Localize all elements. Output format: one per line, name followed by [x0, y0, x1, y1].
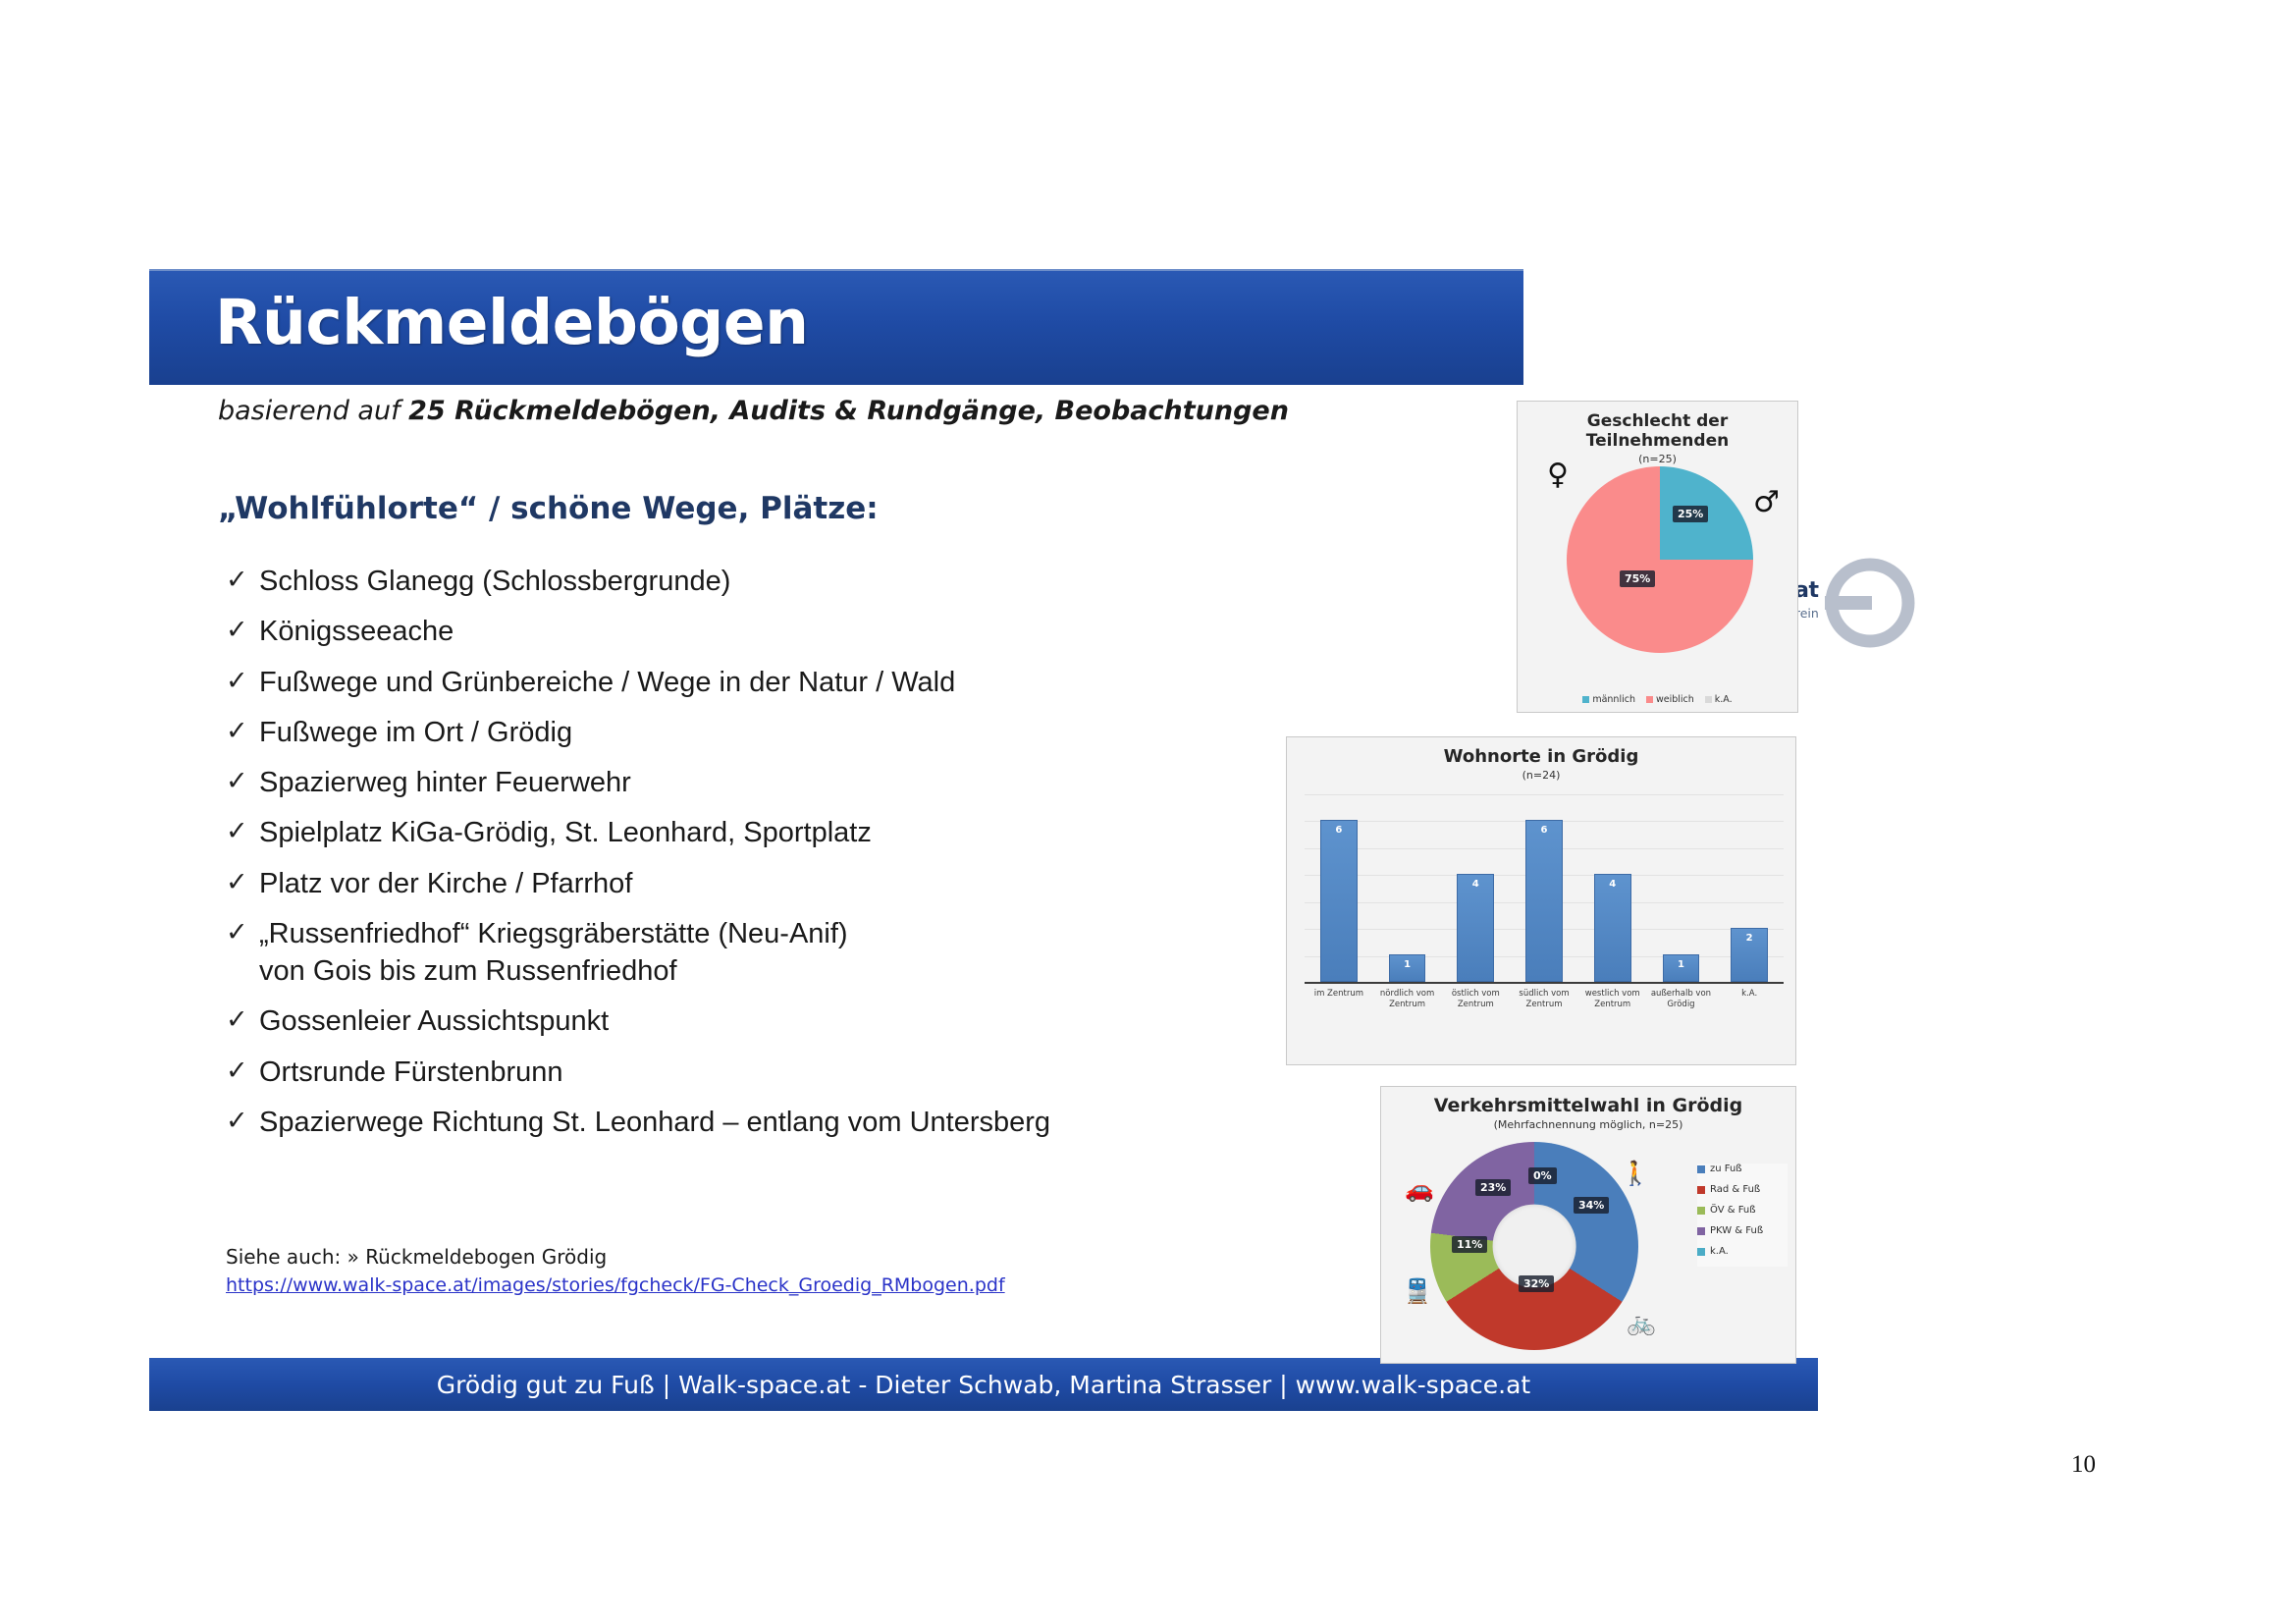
section-heading: „Wohlfühlorte“ / schöne Wege, Plätze: — [218, 491, 879, 526]
male-symbol-icon: ♂ — [1753, 488, 1780, 517]
legend-item-maennlich: männlich — [1582, 694, 1635, 705]
check-icon: ✓ — [226, 664, 259, 699]
bar[interactable]: 4 — [1594, 874, 1631, 982]
bar[interactable]: 6 — [1525, 820, 1563, 982]
legend-swatch-icon — [1697, 1165, 1705, 1173]
list-item: ✓ Spazierweg hinter Feuerwehr — [226, 764, 1276, 801]
page-number: 10 — [2071, 1451, 2096, 1479]
pie-slice-label-weiblich: 75% — [1620, 570, 1655, 587]
list-item-label: Spazierwege Richtung St. Leonhard – entl… — [259, 1104, 1050, 1141]
bar-column: 6 — [1510, 792, 1578, 982]
legend-swatch-icon — [1705, 696, 1712, 703]
list-item-label: Spazierweg hinter Feuerwehr — [259, 764, 631, 801]
legend-swatch-icon — [1582, 696, 1589, 703]
legend-swatch-icon — [1697, 1207, 1705, 1215]
chart-gender-pie: Geschlecht der Teilnehmenden (n=25) ♀ ♂ … — [1517, 401, 1798, 713]
x-tick-label: westlich vom Zentrum — [1578, 986, 1647, 1025]
walk-space-mark-icon — [1820, 553, 1920, 653]
legend-swatch-icon — [1697, 1248, 1705, 1256]
check-icon: ✓ — [226, 563, 259, 598]
donut-label-oev-fuss: 11% — [1452, 1236, 1487, 1253]
legend-item-zu-fuss: zu Fuß — [1697, 1164, 1788, 1174]
legend-label: k.A. — [1715, 694, 1733, 705]
bar-column: 1 — [1647, 792, 1716, 982]
list-item: ✓ Fußwege und Grünbereiche / Wege in der… — [226, 664, 1276, 701]
list-item-label: Schloss Glanegg (Schlossbergrunde) — [259, 563, 730, 600]
list-item-label: Spielplatz KiGa-Grödig, St. Leonhard, Sp… — [259, 814, 872, 851]
subtitle-prefix: basierend auf — [218, 396, 408, 426]
bar[interactable]: 1 — [1389, 954, 1426, 982]
female-symbol-icon: ♀ — [1547, 460, 1569, 490]
donut-label-ka: 0% — [1528, 1167, 1557, 1184]
legend-item-oev-fuss: ÖV & Fuß — [1697, 1205, 1788, 1216]
pie-slice-label-maennlich: 25% — [1673, 506, 1708, 522]
x-tick-label: südlich vom Zentrum — [1510, 986, 1578, 1025]
slide-title-bar: Rückmeldebögen — [149, 269, 1523, 385]
bar-value-label: 1 — [1664, 959, 1699, 970]
slide-subtitle: basierend auf 25 Rückmeldebögen, Audits … — [218, 396, 1289, 426]
list-item: ✓ Spazierwege Richtung St. Leonhard – en… — [226, 1104, 1276, 1141]
legend-item-weiblich: weiblich — [1646, 694, 1694, 705]
chart-title: Geschlecht der Teilnehmenden — [1518, 411, 1797, 451]
list-item: ✓ „Russenfriedhof“ Kriegsgräberstätte (N… — [226, 915, 1276, 991]
pedestrian-icon: 🚶 — [1621, 1162, 1650, 1185]
bar-value-label: 6 — [1321, 825, 1357, 836]
list-item: ✓ Spielplatz KiGa-Grödig, St. Leonhard, … — [226, 814, 1276, 851]
bar[interactable]: 4 — [1457, 874, 1494, 982]
bar-column: 4 — [1441, 792, 1510, 982]
x-tick-label: außerhalb von Grödig — [1647, 986, 1716, 1025]
donut-label-rad-fuss: 32% — [1519, 1275, 1554, 1292]
list-item: ✓ Ortsrunde Fürstenbrunn — [226, 1054, 1276, 1091]
check-icon: ✓ — [226, 613, 259, 648]
footer-text: Grödig gut zu Fuß | Walk-space.at - Diet… — [149, 1371, 1818, 1399]
slide-canvas: Rückmeldebögen basierend auf 25 Rückmeld… — [149, 263, 1818, 1432]
subtitle-emphasis: 25 Rückmeldebögen, Audits & Rundgänge, B… — [408, 396, 1289, 426]
bar[interactable]: 6 — [1320, 820, 1358, 982]
x-tick-label: nördlich vom Zentrum — [1373, 986, 1442, 1025]
legend-item-ka: k.A. — [1697, 1246, 1788, 1257]
chart-subtitle: (Mehrfachnennung möglich, n=25) — [1381, 1118, 1795, 1131]
list-item-label: Gossenleier Aussichtspunkt — [259, 1002, 609, 1040]
x-axis-labels: im Zentrum nördlich vom Zentrum östlich … — [1305, 986, 1784, 1025]
see-also-link[interactable]: https://www.walk-space.at/images/stories… — [226, 1274, 1005, 1296]
check-icon: ✓ — [226, 915, 259, 950]
bar-column: 1 — [1373, 792, 1442, 982]
pie-graphic — [1567, 466, 1753, 653]
bar-series: 6 1 4 6 — [1305, 792, 1784, 982]
list-item-label: Fußwege im Ort / Grödig — [259, 714, 572, 751]
legend-item-rad-fuss: Rad & Fuß — [1697, 1184, 1788, 1195]
page-title: Rückmeldebögen — [215, 287, 808, 358]
see-also-label: Siehe auch: » Rückmeldebogen Grödig — [226, 1245, 607, 1269]
bar-value-label: 6 — [1526, 825, 1562, 836]
check-icon: ✓ — [226, 764, 259, 799]
legend-label: männlich — [1592, 694, 1635, 705]
legend-swatch-icon — [1646, 696, 1653, 703]
x-tick-label: k.A. — [1715, 986, 1784, 1025]
bar[interactable]: 2 — [1731, 928, 1768, 982]
chart-subtitle: (n=24) — [1287, 769, 1795, 782]
list-item: ✓ Platz vor der Kirche / Pfarrhof — [226, 865, 1276, 902]
bar-plot-area: 6 1 4 6 — [1305, 794, 1784, 1025]
bicycle-icon: 🚲 — [1627, 1311, 1656, 1334]
legend-label: k.A. — [1710, 1246, 1729, 1257]
x-tick-label: östlich vom Zentrum — [1441, 986, 1510, 1025]
check-icon: ✓ — [226, 714, 259, 749]
chart-title: Wohnorte in Grödig — [1287, 746, 1795, 767]
legend-label: PKW & Fuß — [1710, 1225, 1763, 1236]
list-item-label: Ortsrunde Fürstenbrunn — [259, 1054, 562, 1091]
check-icon: ✓ — [226, 1104, 259, 1139]
chart-verkehrsmittel-donut: Verkehrsmittelwahl in Grödig (Mehrfachne… — [1380, 1086, 1796, 1364]
bar-column: 6 — [1305, 792, 1373, 982]
pie-legend: männlich weiblich k.A. — [1518, 694, 1797, 705]
bar-value-label: 4 — [1458, 879, 1493, 890]
donut-label-pkw-fuss: 23% — [1475, 1179, 1511, 1196]
chart-wohnorte-bar: Wohnorte in Grödig (n=24) 6 1 — [1286, 736, 1796, 1065]
legend-item-pkw-fuss: PKW & Fuß — [1697, 1225, 1788, 1236]
slide-footer-bar: Grödig gut zu Fuß | Walk-space.at - Diet… — [149, 1358, 1818, 1411]
bar-column: 4 — [1578, 792, 1647, 982]
list-item-label: „Russenfriedhof“ Kriegsgräberstätte (Neu… — [259, 915, 848, 991]
list-item: ✓ Fußwege im Ort / Grödig — [226, 714, 1276, 751]
transit-icon: 🚆 — [1403, 1279, 1432, 1303]
list-item: ✓ Gossenleier Aussichtspunkt — [226, 1002, 1276, 1040]
list-item: ✓ Königsseeache — [226, 613, 1276, 650]
chart-title: Verkehrsmittelwahl in Grödig — [1381, 1095, 1795, 1116]
x-tick-label: im Zentrum — [1305, 986, 1373, 1025]
legend-label: Rad & Fuß — [1710, 1184, 1760, 1195]
list-item-label: Königsseeache — [259, 613, 454, 650]
see-also-block: Siehe auch: » Rückmeldebogen Grödig http… — [226, 1245, 1005, 1296]
check-icon: ✓ — [226, 1002, 259, 1038]
legend-item-ka: k.A. — [1705, 694, 1733, 705]
bar-value-label: 1 — [1390, 959, 1425, 970]
legend-label: weiblich — [1656, 694, 1694, 705]
bar[interactable]: 1 — [1663, 954, 1700, 982]
x-axis-line — [1305, 982, 1784, 984]
list-item-label: Fußwege und Grünbereiche / Wege in der N… — [259, 664, 955, 701]
legend-swatch-icon — [1697, 1186, 1705, 1194]
car-icon: 🚗 — [1405, 1177, 1434, 1201]
list-item: ✓ Schloss Glanegg (Schlossbergrunde) — [226, 563, 1276, 600]
wohlfuehlorte-list: ✓ Schloss Glanegg (Schlossbergrunde) ✓ K… — [226, 563, 1276, 1154]
bar-value-label: 4 — [1595, 879, 1630, 890]
bar-value-label: 2 — [1732, 933, 1767, 944]
legend-swatch-icon — [1697, 1227, 1705, 1235]
donut-label-zu-fuss: 34% — [1574, 1197, 1609, 1214]
check-icon: ✓ — [226, 865, 259, 900]
legend-label: ÖV & Fuß — [1710, 1205, 1756, 1216]
list-item-label: Platz vor der Kirche / Pfarrhof — [259, 865, 632, 902]
bar-column: 2 — [1715, 792, 1784, 982]
legend-label: zu Fuß — [1710, 1164, 1742, 1174]
check-icon: ✓ — [226, 1054, 259, 1089]
donut-legend: zu Fuß Rad & Fuß ÖV & Fuß PKW & Fuß k.A. — [1697, 1164, 1788, 1267]
check-icon: ✓ — [226, 814, 259, 849]
